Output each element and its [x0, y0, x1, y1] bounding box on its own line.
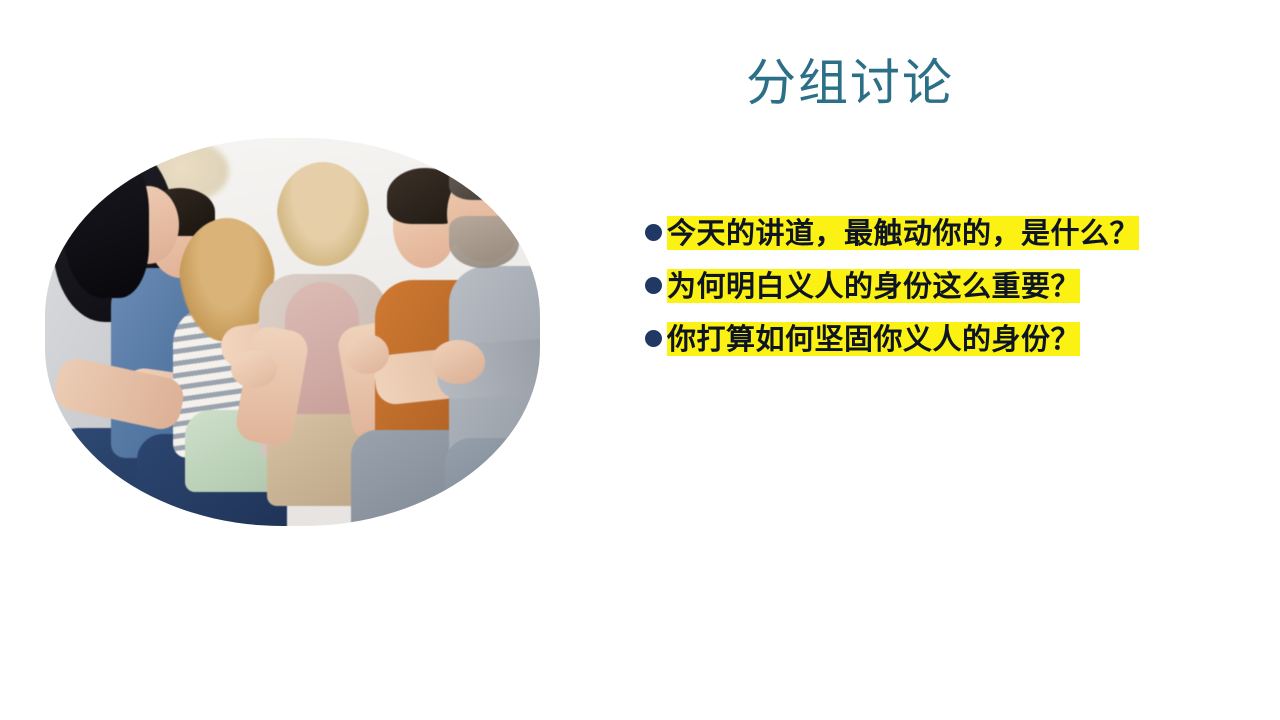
bullet-text: 你打算如何坚固你义人的身份？	[667, 320, 1080, 359]
clasped-hands-center	[345, 334, 389, 374]
list-item[interactable]: 你打算如何坚固你义人的身份？	[645, 320, 1185, 359]
bullet-text-highlight: 你打算如何坚固你义人的身份？	[667, 322, 1080, 356]
person-6-legs	[445, 438, 540, 526]
page-title: 分组讨论	[600, 52, 1100, 114]
person-4-hair	[277, 162, 369, 266]
bullet-dot-icon	[645, 330, 662, 347]
person-1-hair-front	[63, 148, 149, 298]
group-discussion-image	[45, 138, 540, 526]
clasped-hands-right	[431, 340, 485, 384]
bullet-dot-icon	[645, 277, 662, 294]
discussion-question-list: 今天的讲道，最触动你的，是什么？ 为何明白义人的身份这么重要？ 你打算如何坚固你…	[645, 214, 1185, 359]
person-6-hair	[449, 152, 529, 200]
clasped-hands-left	[231, 350, 277, 388]
list-item[interactable]: 今天的讲道，最触动你的，是什么？	[645, 214, 1185, 253]
bullet-dot-icon	[645, 224, 662, 241]
bullet-text-highlight: 为何明白义人的身份这么重要？	[667, 269, 1080, 303]
list-item[interactable]: 为何明白义人的身份这么重要？	[645, 267, 1185, 306]
person-6-beard	[449, 216, 519, 268]
bullet-text: 为何明白义人的身份这么重要？	[667, 267, 1080, 306]
photo-content	[45, 138, 540, 526]
bullet-text: 今天的讲道，最触动你的，是什么？	[667, 214, 1141, 253]
presentation-slide: 分组讨论	[0, 0, 1280, 720]
bullet-text-highlight: 今天的讲道，最触动你的，是什么？	[667, 216, 1139, 250]
